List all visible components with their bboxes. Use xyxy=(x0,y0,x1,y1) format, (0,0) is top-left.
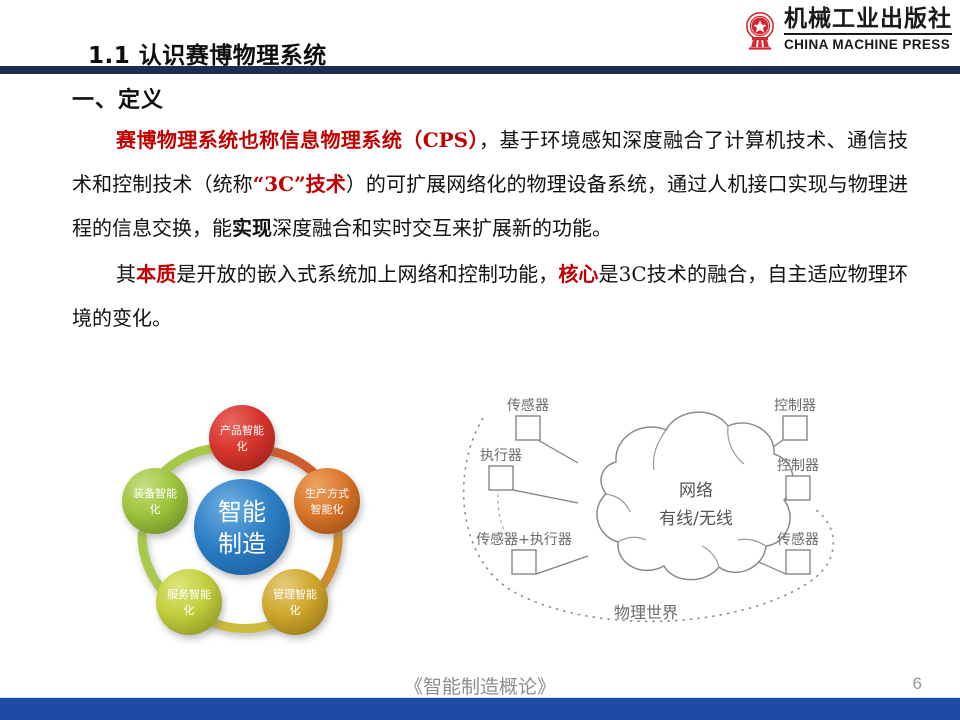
page-title: 1.1 认识赛博物理系统 xyxy=(88,36,327,70)
publisher-name-en: CHINA MACHINE PRESS xyxy=(784,37,952,53)
pentagon-node-production-label-2: 智能化 xyxy=(311,502,344,516)
paragraph-1-part-3: 深度融合和实时交互来扩展新的功能。 xyxy=(272,216,612,240)
cps-network-cloud-diagram: 网络 有线/无线 传感器 执行器 传感器+执行器 控制器 控制器 传感器 物理世… xyxy=(438,378,862,660)
node-box-sensor-actuator[interactable] xyxy=(512,550,536,574)
node-label-sensor-bottom-right: 传感器 xyxy=(777,531,819,548)
pentagon-node-service-label-1: 服务智能 xyxy=(167,587,211,601)
cloud-label-line-1: 网络 xyxy=(679,481,713,501)
pentagon-node-service[interactable]: 服务智能 化 xyxy=(156,569,222,635)
paragraph-2-highlight-2: 核心 xyxy=(558,262,598,286)
paragraph-1-highlight-2: “3C”技术 xyxy=(253,172,346,196)
paragraph-1: 赛博物理系统也称信息物理系统（CPS），基于环境感知深度融合了计算机技术、通信技… xyxy=(72,118,908,250)
node-label-sensor-actuator: 传感器+执行器 xyxy=(476,531,572,548)
node-box-sensor-top-left[interactable] xyxy=(516,416,540,440)
paragraph-2-part-0: 其 xyxy=(116,262,136,286)
title-divider xyxy=(0,66,960,74)
publisher-logo-text: 机械工业出版社 CHINA MACHINE PRESS xyxy=(784,7,952,53)
paragraph-1-highlight-1: 赛博物理系统也称信息物理系统（CPS） xyxy=(116,128,479,152)
pentagon-node-production[interactable]: 生产方式 智能化 xyxy=(294,468,360,534)
publisher-name-cn: 机械工业出版社 xyxy=(784,7,952,35)
section-heading: 一、定义 xyxy=(72,82,164,114)
pentagon-node-equipment[interactable]: 装备智能 化 xyxy=(122,468,188,534)
pentagon-node-production-label-1: 生产方式 xyxy=(305,486,349,500)
pentagon-node-management-label-2: 化 xyxy=(290,603,301,617)
pentagon-node-equipment-label-1: 装备智能 xyxy=(133,486,177,500)
pentagon-center-node[interactable]: 智能 制造 xyxy=(194,479,290,575)
pentagon-node-management[interactable]: 管理智能 化 xyxy=(262,569,328,635)
page-number: 6 xyxy=(913,674,922,694)
physical-world-label: 物理世界 xyxy=(614,603,678,622)
pentagon-node-equipment-label-2: 化 xyxy=(150,502,161,516)
pentagon-node-service-label-2: 化 xyxy=(184,603,195,617)
node-label-actuator-left: 执行器 xyxy=(480,448,522,464)
node-box-controller-top[interactable] xyxy=(783,416,807,440)
pentagon-center-label-1: 智能 xyxy=(218,498,266,526)
publisher-logo: 机械工业出版社 CHINA MACHINE PRESS xyxy=(742,6,952,54)
paragraph-2-part-1: 是开放的嵌入式系统加上网络和控制功能， xyxy=(176,262,558,286)
paragraph-2: 其本质是开放的嵌入式系统加上网络和控制功能，核心是3C技术的融合，自主适应物理环… xyxy=(72,252,908,340)
definition-text-block: 赛博物理系统也称信息物理系统（CPS），基于环境感知深度融合了计算机技术、通信技… xyxy=(72,118,908,340)
node-label-sensor-top-left: 传感器 xyxy=(507,397,549,414)
pentagon-node-product-label-2: 化 xyxy=(237,439,248,453)
pentagon-node-management-label-1: 管理智能 xyxy=(273,587,317,601)
paragraph-2-highlight-1: 本质 xyxy=(136,262,176,286)
node-label-controller-right: 控制器 xyxy=(777,458,819,474)
node-box-sensor-bottom-right[interactable] xyxy=(786,550,810,574)
footer-bar xyxy=(0,698,960,720)
paragraph-1-bold-1: 实现 xyxy=(232,216,272,240)
node-box-controller-right[interactable] xyxy=(786,476,810,500)
cloud-label-line-2: 有线/无线 xyxy=(659,509,733,529)
footer-book-title: 《智能制造概论》 xyxy=(0,672,960,699)
node-box-actuator-left[interactable] xyxy=(489,466,513,490)
node-label-controller-top: 控制器 xyxy=(774,398,816,414)
pentagon-node-product-label-1: 产品智能 xyxy=(220,423,264,437)
pentagon-node-product[interactable]: 产品智能 化 xyxy=(209,405,275,471)
publisher-seal-icon xyxy=(742,10,778,50)
intelligent-manufacturing-pentagon-diagram: 智能 制造 产品智能 化 生产方式 智能化 管理智能 化 服务智能 化 xyxy=(92,388,392,660)
pentagon-center-label-2: 制造 xyxy=(218,530,266,558)
slide-header: 机械工业出版社 CHINA MACHINE PRESS 1.1 认识赛博物理系统 xyxy=(0,0,960,72)
